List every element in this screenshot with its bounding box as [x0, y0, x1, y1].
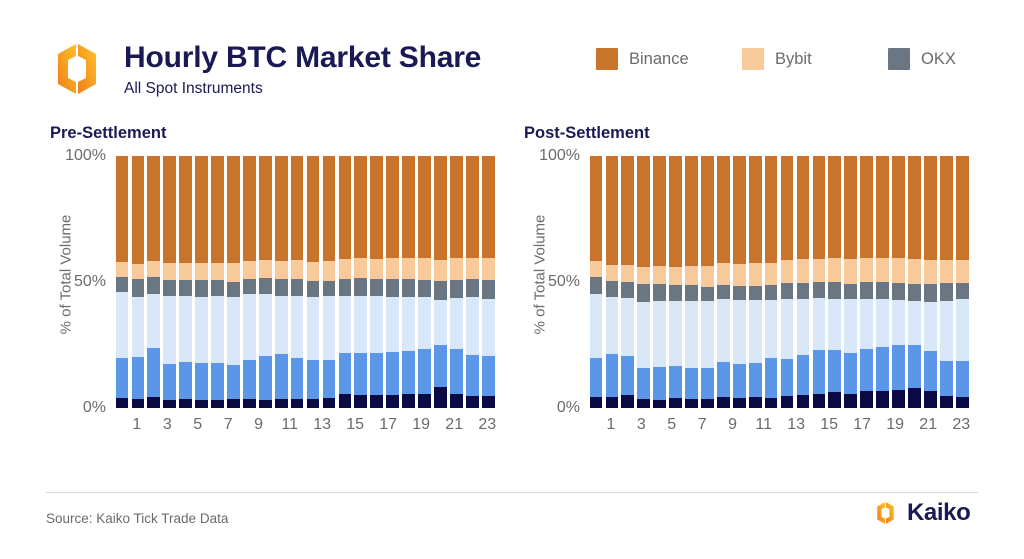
- bar-segment-others: [813, 298, 826, 350]
- y-tick-pre-settlement-1: 50%: [50, 274, 106, 290]
- bar-slot[interactable]: [747, 156, 763, 408]
- bar-slot[interactable]: [620, 156, 636, 408]
- stacked-bars-pre-settlement: [114, 156, 496, 408]
- bar-segment-other-u-s: [876, 347, 889, 391]
- bar-segment-others: [116, 292, 129, 358]
- bar-slot[interactable]: [417, 156, 433, 408]
- bar-slot[interactable]: [289, 156, 305, 408]
- bar-segment-bybit: [940, 260, 953, 283]
- y-tick-pre-settlement-2: 100%: [50, 148, 106, 164]
- stacked-bar-hour-1[interactable]: [606, 156, 619, 408]
- stacked-bar-hour-2[interactable]: [147, 156, 160, 408]
- x-tick-pre-settlement-11: 11: [281, 414, 298, 440]
- bar-slot[interactable]: [369, 156, 385, 408]
- bar-slot[interactable]: [146, 156, 162, 408]
- bar-slot[interactable]: [652, 156, 668, 408]
- bar-slot[interactable]: [225, 156, 241, 408]
- bar-segment-bybit: [653, 266, 666, 284]
- stacked-bar-hour-23[interactable]: [482, 156, 495, 408]
- bar-segment-other-u-s: [781, 359, 794, 397]
- bar-slot[interactable]: [130, 156, 146, 408]
- bar-slot[interactable]: [588, 156, 604, 408]
- bar-slot[interactable]: [938, 156, 954, 408]
- bar-segment-others: [590, 294, 603, 358]
- bar-slot[interactable]: [922, 156, 938, 408]
- bar-segment-bybit: [466, 258, 479, 279]
- x-tick-pre-settlement-21: 21: [445, 414, 463, 440]
- bar-segment-binance: [259, 156, 272, 260]
- bar-segment-binance: [179, 156, 192, 263]
- stacked-bar-hour-6[interactable]: [685, 156, 698, 408]
- bar-segment-coinbase: [147, 397, 160, 408]
- bar-segment-binance: [717, 156, 730, 263]
- stacked-bar-hour-4[interactable]: [179, 156, 192, 408]
- bar-segment-others: [466, 297, 479, 355]
- x-tick-pre-settlement-19: 19: [412, 414, 430, 440]
- bar-segment-okx: [685, 285, 698, 301]
- bar-segment-okx: [482, 280, 495, 298]
- bar-slot[interactable]: [954, 156, 970, 408]
- bar-segment-other-u-s: [339, 353, 352, 394]
- bar-segment-bybit: [259, 260, 272, 278]
- bar-segment-other-u-s: [653, 367, 666, 400]
- stacked-bar-hour-5[interactable]: [195, 156, 208, 408]
- x-tick-pre-settlement-17: 17: [379, 414, 397, 440]
- bar-segment-coinbase: [844, 394, 857, 408]
- bar-segment-other-u-s: [132, 357, 145, 399]
- legend-swatch-bybit: [742, 48, 764, 70]
- bar-segment-bybit: [323, 261, 336, 281]
- bar-segment-okx: [147, 277, 160, 294]
- bar-segment-bybit: [370, 259, 383, 280]
- bar-slot[interactable]: [636, 156, 652, 408]
- bar-segment-coinbase: [386, 395, 399, 408]
- bar-segment-others: [291, 296, 304, 358]
- bar-segment-binance: [482, 156, 495, 258]
- bar-segment-others: [956, 299, 969, 361]
- bar-segment-coinbase: [482, 396, 495, 408]
- bar-segment-binance: [132, 156, 145, 264]
- stacked-bar-hour-20[interactable]: [434, 156, 447, 408]
- y-tick-post-settlement-0: 0%: [524, 400, 580, 416]
- bar-segment-others: [940, 301, 953, 361]
- bar-segment-other-u-s: [259, 356, 272, 400]
- bar-segment-bybit: [828, 258, 841, 282]
- bar-slot[interactable]: [875, 156, 891, 408]
- x-tick-pre-settlement-7: 7: [221, 414, 236, 440]
- bar-segment-binance: [147, 156, 160, 261]
- bar-segment-binance: [781, 156, 794, 260]
- bar-slot[interactable]: [178, 156, 194, 408]
- bar-segment-okx: [466, 279, 479, 297]
- stacked-bar-hour-14[interactable]: [813, 156, 826, 408]
- bar-segment-bybit: [339, 259, 352, 279]
- bar-segment-bybit: [227, 263, 240, 282]
- stacked-bar-hour-21[interactable]: [924, 156, 937, 408]
- stacked-bar-hour-1[interactable]: [132, 156, 145, 408]
- stacked-bar-hour-3[interactable]: [637, 156, 650, 408]
- bar-slot[interactable]: [321, 156, 337, 408]
- x-tick-pre-settlement-9: 9: [251, 414, 266, 440]
- bar-segment-other-u-s: [717, 362, 730, 398]
- stacked-bar-hour-14[interactable]: [339, 156, 352, 408]
- bar-segment-okx: [701, 287, 714, 302]
- stacked-bar-hour-0[interactable]: [590, 156, 603, 408]
- bar-segment-coinbase: [195, 400, 208, 408]
- stacked-bar-hour-13[interactable]: [323, 156, 336, 408]
- bar-segment-okx: [860, 282, 873, 299]
- bar-slot[interactable]: [891, 156, 907, 408]
- bar-slot[interactable]: [795, 156, 811, 408]
- x-tick-pre-settlement-1: 1: [129, 414, 144, 440]
- stacked-bar-hour-19[interactable]: [892, 156, 905, 408]
- bar-segment-binance: [590, 156, 603, 261]
- bar-segment-others: [860, 299, 873, 349]
- x-tick-pre-settlement-12: [298, 414, 313, 440]
- stacked-bar-hour-4[interactable]: [653, 156, 666, 408]
- x-tick-pre-settlement-16: [364, 414, 379, 440]
- bar-segment-bybit: [908, 259, 921, 283]
- bar-segment-okx: [653, 284, 666, 301]
- stacked-bar-hour-12[interactable]: [307, 156, 320, 408]
- stacked-bar-hour-12[interactable]: [781, 156, 794, 408]
- bar-slot[interactable]: [257, 156, 273, 408]
- bar-segment-bybit: [195, 263, 208, 280]
- stacked-bar-hour-10[interactable]: [275, 156, 288, 408]
- x-tick-post-settlement-23: 23: [952, 414, 970, 440]
- stacked-bar-hour-17[interactable]: [386, 156, 399, 408]
- bar-slot[interactable]: [432, 156, 448, 408]
- stacked-bar-hour-15[interactable]: [354, 156, 367, 408]
- stacked-bar-hour-19[interactable]: [418, 156, 431, 408]
- bar-segment-okx: [339, 279, 352, 296]
- plot-area-pre-settlement: [114, 156, 496, 408]
- x-tick-post-settlement-3: 3: [634, 414, 649, 440]
- bar-segment-bybit: [434, 260, 447, 281]
- stacked-bar-hour-23[interactable]: [956, 156, 969, 408]
- bar-segment-okx: [908, 284, 921, 301]
- bar-segment-okx: [163, 280, 176, 296]
- bar-segment-other-u-s: [701, 368, 714, 399]
- title-block: Hourly BTC Market Share All Spot Instrum…: [124, 40, 481, 99]
- bar-segment-other-u-s: [323, 360, 336, 398]
- bar-segment-coinbase: [370, 395, 383, 408]
- bar-segment-coinbase: [606, 397, 619, 408]
- bar-segment-other-u-s: [370, 353, 383, 396]
- bar-segment-coinbase: [291, 399, 304, 408]
- x-tick-post-settlement-22: [937, 414, 952, 440]
- legend-label-binance: Binance: [629, 48, 689, 70]
- bar-segment-others: [653, 301, 666, 368]
- stacked-bar-hour-21[interactable]: [450, 156, 463, 408]
- bar-segment-other-u-s: [733, 364, 746, 398]
- bar-segment-coinbase: [621, 395, 634, 408]
- legend-swatch-binance: [596, 48, 618, 70]
- bar-segment-bybit: [307, 262, 320, 281]
- bar-segment-bybit: [749, 263, 762, 285]
- bar-slot[interactable]: [305, 156, 321, 408]
- y-tick-post-settlement-2: 100%: [524, 148, 580, 164]
- bar-segment-coinbase: [132, 399, 145, 408]
- stacked-bar-hour-16[interactable]: [370, 156, 383, 408]
- bar-segment-binance: [466, 156, 479, 258]
- bar-segment-coinbase: [637, 399, 650, 408]
- bar-segment-bybit: [781, 260, 794, 283]
- stacked-bar-hour-0[interactable]: [116, 156, 129, 408]
- bar-segment-others: [781, 299, 794, 359]
- bar-segment-others: [749, 300, 762, 363]
- bar-slot[interactable]: [464, 156, 480, 408]
- bar-segment-others: [606, 297, 619, 354]
- bar-segment-okx: [195, 280, 208, 296]
- bar-segment-others: [354, 296, 367, 353]
- bar-segment-other-u-s: [195, 363, 208, 400]
- bar-slot[interactable]: [210, 156, 226, 408]
- bar-segment-okx: [243, 279, 256, 294]
- stacked-bar-hour-13[interactable]: [797, 156, 810, 408]
- legend-swatch-okx: [888, 48, 910, 70]
- plot-area-post-settlement: [588, 156, 970, 408]
- bar-segment-binance: [450, 156, 463, 258]
- x-tick-post-settlement-9: 9: [725, 414, 740, 440]
- bar-segment-binance: [908, 156, 921, 259]
- bar-segment-binance: [275, 156, 288, 261]
- bar-segment-coinbase: [733, 398, 746, 408]
- bar-segment-bybit: [860, 258, 873, 282]
- stacked-bar-hour-18[interactable]: [402, 156, 415, 408]
- bar-slot[interactable]: [604, 156, 620, 408]
- bar-segment-other-u-s: [147, 348, 160, 397]
- bar-segment-others: [717, 299, 730, 362]
- stacked-bar-hour-7[interactable]: [227, 156, 240, 408]
- bar-slot[interactable]: [385, 156, 401, 408]
- bar-slot[interactable]: [906, 156, 922, 408]
- bar-slot[interactable]: [827, 156, 843, 408]
- x-tick-pre-settlement-14: [331, 414, 346, 440]
- bar-segment-bybit: [669, 267, 682, 285]
- kaiko-hexagon-logo-icon: [872, 500, 899, 526]
- bar-segment-bybit: [590, 261, 603, 277]
- bar-segment-coinbase: [243, 399, 256, 408]
- bar-segment-binance: [370, 156, 383, 259]
- stacked-bar-hour-10[interactable]: [749, 156, 762, 408]
- stacked-bar-hour-9[interactable]: [259, 156, 272, 408]
- legend-label-bybit: Bybit: [775, 48, 812, 70]
- x-axis-ticks-pre-settlement: 1357911131517192123: [114, 414, 496, 440]
- bar-segment-coinbase: [685, 399, 698, 408]
- bar-segment-okx: [179, 280, 192, 295]
- x-tick-pre-settlement-0: [114, 414, 129, 440]
- stacked-bar-hour-11[interactable]: [765, 156, 778, 408]
- stacked-bar-hour-7[interactable]: [701, 156, 714, 408]
- bar-slot[interactable]: [162, 156, 178, 408]
- bar-segment-other-u-s: [354, 353, 367, 395]
- bar-segment-others: [195, 297, 208, 364]
- x-tick-post-settlement-12: [772, 414, 787, 440]
- bar-segment-binance: [116, 156, 129, 262]
- bar-segment-others: [669, 301, 682, 366]
- bar-slot[interactable]: [114, 156, 130, 408]
- bar-segment-bybit: [211, 263, 224, 281]
- bar-segment-binance: [860, 156, 873, 258]
- x-tick-post-settlement-10: [740, 414, 755, 440]
- bar-slot[interactable]: [699, 156, 715, 408]
- bar-segment-others: [259, 294, 272, 356]
- bar-segment-binance: [797, 156, 810, 259]
- bar-segment-bybit: [606, 265, 619, 282]
- x-tick-pre-settlement-22: [463, 414, 478, 440]
- bar-segment-okx: [370, 279, 383, 296]
- y-axis-ticks-pre-settlement: 0%50%100%: [48, 156, 106, 416]
- bar-segment-others: [828, 299, 841, 350]
- stacked-bar-hour-2[interactable]: [621, 156, 634, 408]
- bar-slot[interactable]: [684, 156, 700, 408]
- bar-segment-okx: [924, 284, 937, 302]
- bar-segment-other-u-s: [621, 356, 634, 395]
- bar-segment-other-u-s: [434, 345, 447, 387]
- bar-segment-coinbase: [765, 398, 778, 408]
- bar-segment-coinbase: [434, 387, 447, 408]
- x-tick-pre-settlement-8: [236, 414, 251, 440]
- stacked-bar-hour-5[interactable]: [669, 156, 682, 408]
- bar-slot[interactable]: [241, 156, 257, 408]
- x-tick-post-settlement-13: 13: [787, 414, 805, 440]
- bar-segment-coinbase: [924, 391, 937, 408]
- bar-segment-bybit: [717, 263, 730, 284]
- bar-slot[interactable]: [763, 156, 779, 408]
- bar-segment-others: [402, 297, 415, 351]
- bar-segment-okx: [606, 281, 619, 296]
- bar-segment-bybit: [733, 264, 746, 286]
- legend-item-bybit[interactable]: Bybit: [742, 44, 888, 74]
- stacked-bar-hour-18[interactable]: [876, 156, 889, 408]
- stacked-bar-hour-17[interactable]: [860, 156, 873, 408]
- bar-segment-okx: [956, 283, 969, 299]
- stacked-bar-hour-22[interactable]: [466, 156, 479, 408]
- stacked-bar-hour-6[interactable]: [211, 156, 224, 408]
- legend-item-okx[interactable]: OKX: [888, 44, 1024, 74]
- stacked-bar-hour-8[interactable]: [243, 156, 256, 408]
- bar-segment-binance: [653, 156, 666, 266]
- bar-segment-coinbase: [466, 396, 479, 408]
- bar-slot[interactable]: [715, 156, 731, 408]
- bar-segment-coinbase: [590, 397, 603, 408]
- bar-segment-coinbase: [259, 400, 272, 408]
- bar-slot[interactable]: [337, 156, 353, 408]
- bar-segment-others: [924, 302, 937, 351]
- x-tick-post-settlement-11: 11: [755, 414, 772, 440]
- chart-panel-post-settlement: Post-Settlement % of Total Volume 0%50%1…: [512, 120, 992, 470]
- stacked-bar-hour-16[interactable]: [844, 156, 857, 408]
- bar-segment-bybit: [402, 258, 415, 279]
- bar-slot[interactable]: [448, 156, 464, 408]
- x-tick-post-settlement-20: [904, 414, 919, 440]
- bar-slot[interactable]: [194, 156, 210, 408]
- bar-slot[interactable]: [859, 156, 875, 408]
- bar-segment-okx: [116, 277, 129, 292]
- bar-segment-binance: [876, 156, 889, 258]
- bar-segment-other-u-s: [163, 364, 176, 400]
- bar-segment-coinbase: [339, 394, 352, 408]
- bar-segment-binance: [828, 156, 841, 258]
- x-tick-pre-settlement-4: [175, 414, 190, 440]
- stacked-bar-hour-8[interactable]: [717, 156, 730, 408]
- legend-item-binance[interactable]: Binance: [596, 44, 742, 74]
- bar-segment-okx: [892, 283, 905, 300]
- bar-slot[interactable]: [731, 156, 747, 408]
- bar-segment-okx: [844, 284, 857, 300]
- bar-segment-other-u-s: [860, 349, 873, 392]
- bar-segment-coinbase: [956, 397, 969, 408]
- bar-segment-other-u-s: [828, 350, 841, 392]
- bar-segment-okx: [450, 280, 463, 298]
- bar-segment-okx: [637, 284, 650, 303]
- page-title: Hourly BTC Market Share: [124, 40, 481, 76]
- bar-slot[interactable]: [668, 156, 684, 408]
- bar-segment-other-u-s: [590, 358, 603, 397]
- bar-slot[interactable]: [401, 156, 417, 408]
- x-axis-ticks-post-settlement: 1357911131517192123: [588, 414, 970, 440]
- x-tick-post-settlement-16: [838, 414, 853, 440]
- bar-segment-okx: [733, 286, 746, 300]
- bar-slot[interactable]: [480, 156, 496, 408]
- chart-legend: Binance Bybit OKX Others Other U.S. Coin…: [596, 44, 1024, 74]
- stacked-bar-hour-9[interactable]: [733, 156, 746, 408]
- bar-slot[interactable]: [811, 156, 827, 408]
- bar-segment-others: [132, 297, 145, 357]
- bar-slot[interactable]: [353, 156, 369, 408]
- panel-title-post-settlement: Post-Settlement: [524, 124, 650, 143]
- bar-segment-bybit: [132, 264, 145, 280]
- stacked-bar-hour-22[interactable]: [940, 156, 953, 408]
- x-tick-post-settlement-4: [649, 414, 664, 440]
- bar-segment-others: [370, 296, 383, 352]
- bar-segment-binance: [749, 156, 762, 263]
- bar-segment-binance: [685, 156, 698, 266]
- bar-segment-other-u-s: [227, 365, 240, 400]
- bar-segment-coinbase: [227, 399, 240, 408]
- x-tick-pre-settlement-10: [266, 414, 281, 440]
- bar-segment-coinbase: [418, 394, 431, 408]
- stacked-bar-hour-20[interactable]: [908, 156, 921, 408]
- bar-segment-others: [227, 297, 240, 365]
- bar-segment-others: [147, 294, 160, 348]
- bar-segment-other-u-s: [844, 353, 857, 394]
- bar-segment-coinbase: [354, 395, 367, 408]
- stacked-bar-hour-3[interactable]: [163, 156, 176, 408]
- bar-segment-others: [482, 299, 495, 356]
- y-axis-ticks-post-settlement: 0%50%100%: [522, 156, 580, 416]
- bar-segment-coinbase: [163, 400, 176, 408]
- bar-segment-bybit: [179, 263, 192, 280]
- bar-segment-binance: [291, 156, 304, 260]
- x-tick-pre-settlement-13: 13: [313, 414, 331, 440]
- stacked-bar-hour-11[interactable]: [291, 156, 304, 408]
- x-tick-pre-settlement-18: [397, 414, 412, 440]
- bar-segment-others: [275, 296, 288, 354]
- x-tick-post-settlement-17: 17: [853, 414, 871, 440]
- stacked-bar-hour-15[interactable]: [828, 156, 841, 408]
- bar-slot[interactable]: [843, 156, 859, 408]
- bar-slot[interactable]: [779, 156, 795, 408]
- bar-segment-other-u-s: [482, 356, 495, 396]
- bar-slot[interactable]: [273, 156, 289, 408]
- bar-segment-binance: [386, 156, 399, 258]
- bar-segment-okx: [402, 279, 415, 297]
- bar-segment-coinbase: [860, 391, 873, 408]
- bar-segment-binance: [606, 156, 619, 265]
- bar-segment-binance: [339, 156, 352, 259]
